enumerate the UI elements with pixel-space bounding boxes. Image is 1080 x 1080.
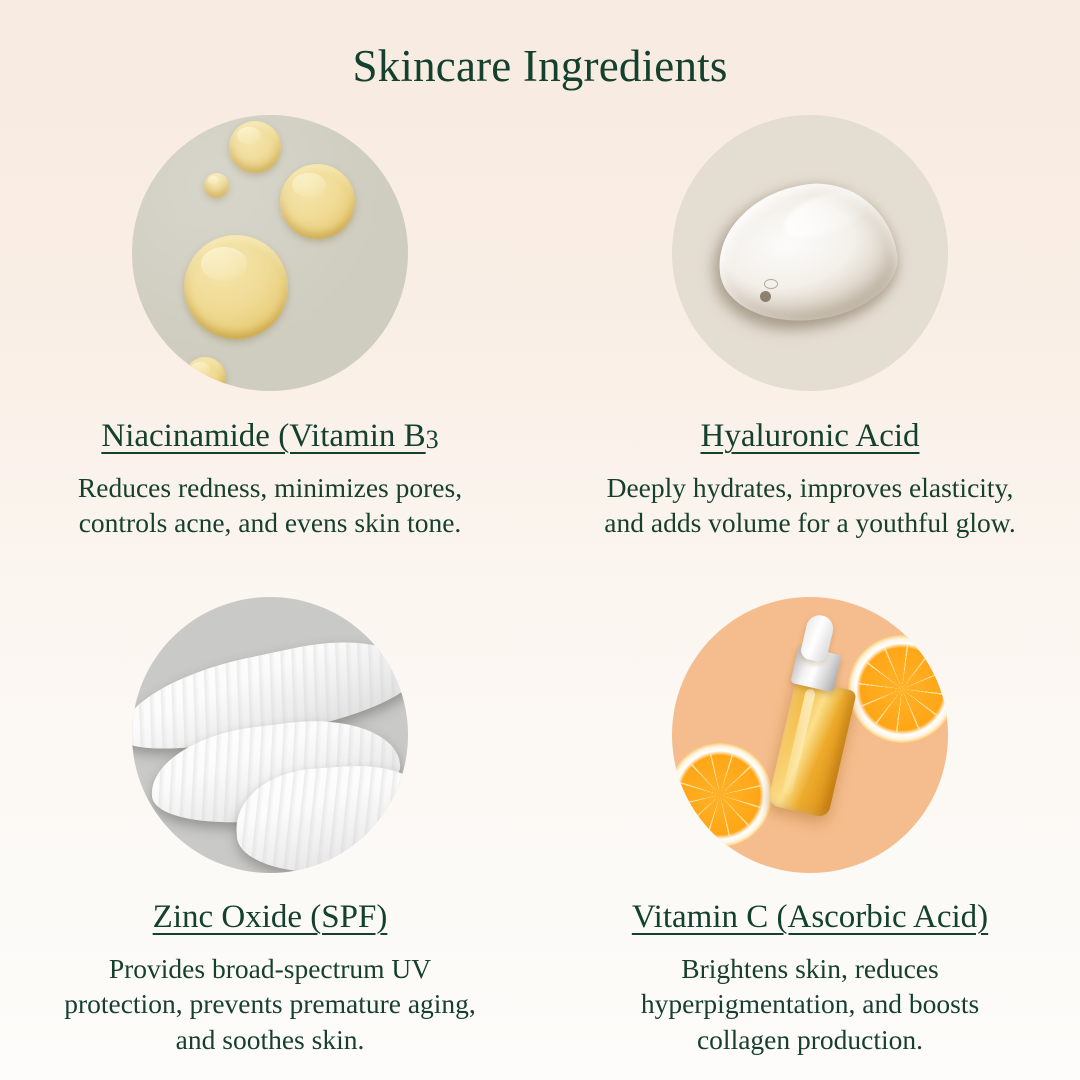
orange-slice-shape (672, 731, 784, 860)
niacinamide-image-wrap (132, 115, 408, 391)
oil-drop (229, 121, 281, 173)
ingredient-card-niacinamide: Niacinamide (Vitamin B3 Reduces redness,… (0, 108, 540, 587)
ingredient-card-hyaluronic-acid: Hyaluronic Acid Deeply hydrates, improve… (540, 108, 1080, 587)
white-cream-swatches-photo (132, 597, 408, 873)
hyaluronic-acid-image-wrap (672, 115, 948, 391)
zinc-oxide-image-wrap (132, 597, 408, 873)
ingredient-heading-zinc-oxide: Zinc Oxide (SPF) (153, 899, 388, 936)
oil-drop (184, 357, 226, 391)
ingredient-card-vitamin-c: Vitamin C (Ascorbic Acid) Brightens skin… (540, 587, 1080, 1080)
heading-main-text: Vitamin C (Ascorbic Acid) (632, 899, 988, 935)
ingredient-heading-hyaluronic-acid: Hyaluronic Acid (700, 418, 919, 455)
gel-bubble-dot (760, 291, 771, 302)
page-title: Skincare Ingredients (0, 0, 1080, 89)
oil-drop (184, 235, 288, 339)
oil-droplets-photo (132, 115, 408, 391)
heading-main-text: Hyaluronic Acid (700, 418, 919, 454)
clear-gel-blob-photo (672, 115, 948, 391)
ingredient-description-niacinamide: Reduces redness, minimizes pores, contro… (60, 470, 480, 541)
gel-bubble-ring (764, 279, 778, 289)
heading-subscript: 3 (426, 425, 439, 454)
heading-main-text: Niacinamide (Vitamin B (101, 418, 425, 454)
oil-drop (280, 164, 355, 239)
ingredient-description-vitamin-c: Brightens skin, reduces hyperpigmentatio… (600, 951, 1020, 1057)
serum-bottle (767, 678, 857, 819)
ingredient-heading-niacinamide: Niacinamide (Vitamin B3 (101, 418, 438, 455)
orange-slice-bottom (672, 731, 784, 860)
vitamin-c-serum-orange-photo (672, 597, 948, 873)
ingredient-heading-vitamin-c: Vitamin C (Ascorbic Acid) (632, 899, 988, 936)
ingredient-grid: Niacinamide (Vitamin B3 Reduces redness,… (0, 108, 1080, 1080)
ingredient-description-hyaluronic-acid: Deeply hydrates, improves elasticity, an… (590, 470, 1030, 541)
ingredient-description-zinc-oxide: Provides broad-spectrum UV protection, p… (60, 951, 480, 1057)
oil-drop (204, 173, 229, 198)
heading-main-text: Zinc Oxide (SPF) (153, 899, 388, 935)
vitamin-c-image-wrap (672, 597, 948, 873)
ingredient-card-zinc-oxide: Zinc Oxide (SPF) Provides broad-spectrum… (0, 587, 540, 1080)
